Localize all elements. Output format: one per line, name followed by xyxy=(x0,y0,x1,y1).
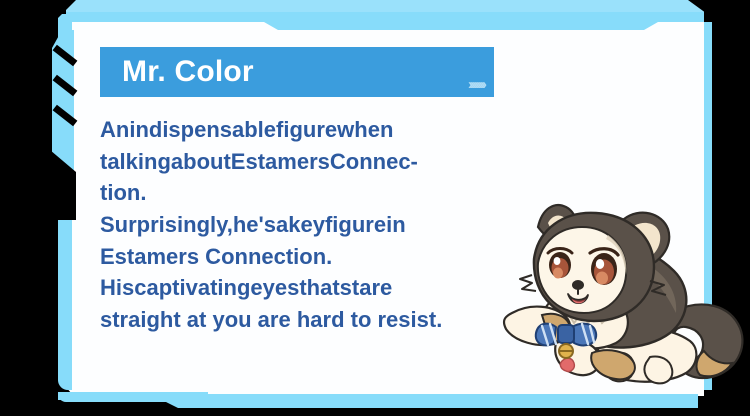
bow-tie-knot xyxy=(558,325,574,343)
description-line: straight at you are hard to resist. xyxy=(100,304,494,336)
dog-character-illustration xyxy=(498,193,750,403)
description-line: Estamers Connection. xyxy=(100,241,494,273)
character-name-banner: Mr. Color › › › › › › › › xyxy=(100,47,494,97)
chevron-arrows-icon: › › › › › › › › xyxy=(468,77,484,92)
description-line: Surprisingly,he'sakeyfigurein xyxy=(100,209,494,241)
description-paragraph: Surprisingly,he'sakeyfigurein Estamers C… xyxy=(100,209,494,272)
description-line: talkingaboutEstamersConnec- xyxy=(100,146,494,178)
description-line: tion. xyxy=(100,177,494,209)
character-description: Anindispensablefigurewhen talkingaboutEs… xyxy=(100,114,494,336)
dog-fur-wisps-left xyxy=(520,275,536,291)
dog-eye-left-lower-light xyxy=(553,268,563,279)
description-line: Hiscaptivatingeyesthatstare xyxy=(100,272,494,304)
character-profile-card-screen: Mr. Color › › › › › › › › Anindispensabl… xyxy=(0,0,750,416)
chevron-right-icon: › xyxy=(482,77,484,92)
description-paragraph: Hiscaptivatingeyesthatstare straight at … xyxy=(100,272,494,335)
description-paragraph: Anindispensablefigurewhen talkingaboutEs… xyxy=(100,114,494,209)
dog-eye-right-lower-light xyxy=(596,272,608,285)
dog-nose xyxy=(572,280,584,290)
page-title: Mr. Color xyxy=(122,57,254,87)
dog-eye-right-highlight xyxy=(596,259,604,269)
dog-body-group xyxy=(504,205,742,383)
dog-hind-paw xyxy=(644,357,672,384)
dog-eye-left-highlight xyxy=(554,257,561,265)
description-line: Anindispensablefigurewhen xyxy=(100,114,494,146)
dog-paw-pad xyxy=(560,358,574,371)
